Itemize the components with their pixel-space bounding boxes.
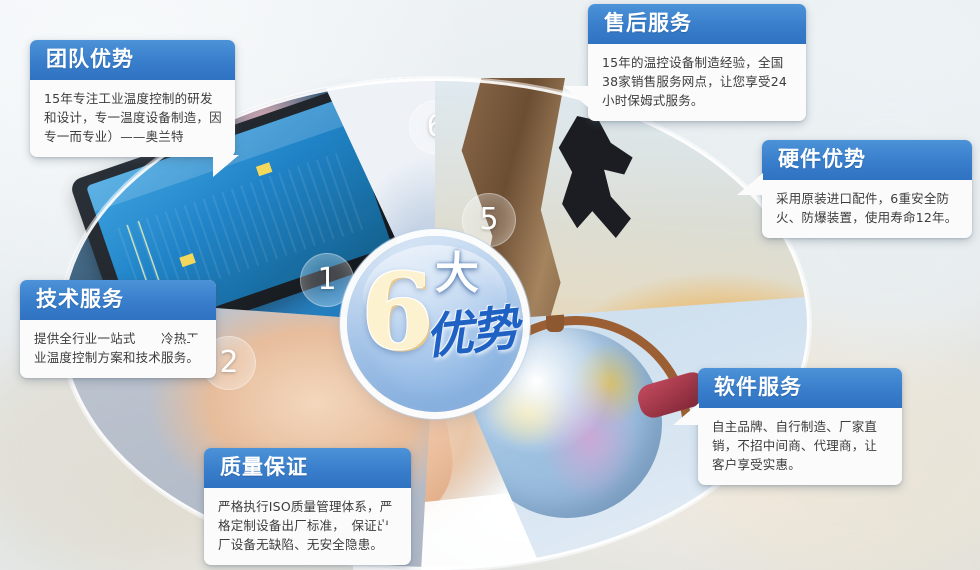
center-big-char: 大 [435,252,479,296]
card-technical-body: 提供全行业一站式 冷热工业温度控制方案和技术服务。 [20,320,216,378]
card-quality-tail [382,521,408,543]
card-technical-service[interactable]: 技术服务 提供全行业一站式 冷热工业温度控制方案和技术服务。 [20,280,216,378]
card-software-body: 自主品牌、自行制造、厂家直销，不招中间商、代理商，让客户享受实惠。 [698,408,902,485]
card-hardware-body: 采用原装进口配件，6重安全防火、防爆装置，使用寿命12年。 [762,180,972,238]
card-software-tail [673,403,699,425]
card-technical-title: 技术服务 [20,280,216,320]
card-after-sales-body: 15年的温控设备制造经验，全国38家销售服务网点，让您享受24小时保姆式服务。 [588,44,806,121]
card-quality-title: 质量保证 [204,448,411,488]
infographic-canvas: 1 6 5 4 [0,0,980,570]
card-after-sales-title: 售后服务 [588,4,806,44]
number-badge-1[interactable]: 1 [300,253,354,307]
card-software-title: 软件服务 [698,368,902,408]
card-technical-tail [190,335,216,357]
center-advantage-text: 优势 [423,303,520,362]
card-after-sales[interactable]: 售后服务 15年的温控设备制造经验，全国38家销售服务网点，让您享受24小时保姆… [588,4,806,121]
card-quality-guarantee[interactable]: 质量保证 严格执行ISO质量管理体系，严格定制设备出厂标准， 保证出厂设备无缺陷… [204,448,411,565]
card-team-title: 团队优势 [30,40,235,80]
card-hardware-advantage[interactable]: 硬件优势 采用原装进口配件，6重安全防火、防爆装置，使用寿命12年。 [762,140,972,238]
card-software-service[interactable]: 软件服务 自主品牌、自行制造、厂家直销，不招中间商、代理商，让客户享受实惠。 [698,368,902,485]
center-badge[interactable]: 6 大 优势 [347,236,523,412]
card-quality-body: 严格执行ISO质量管理体系，严格定制设备出厂标准， 保证出厂设备无缺陷、无安全隐… [204,488,411,565]
card-hardware-tail [737,173,763,195]
number-badge-5[interactable]: 5 [462,193,516,247]
card-team-body: 15年专注工业温度控制的研发和设计，专一温度设备制造，因专一而专业）——奥兰特 [30,80,235,157]
card-team-advantage[interactable]: 团队优势 15年专注工业温度控制的研发和设计，专一温度设备制造，因专一而专业）—… [30,40,235,157]
card-hardware-title: 硬件优势 [762,140,972,180]
card-team-tail [213,155,239,177]
card-after-sales-tail [563,86,589,108]
